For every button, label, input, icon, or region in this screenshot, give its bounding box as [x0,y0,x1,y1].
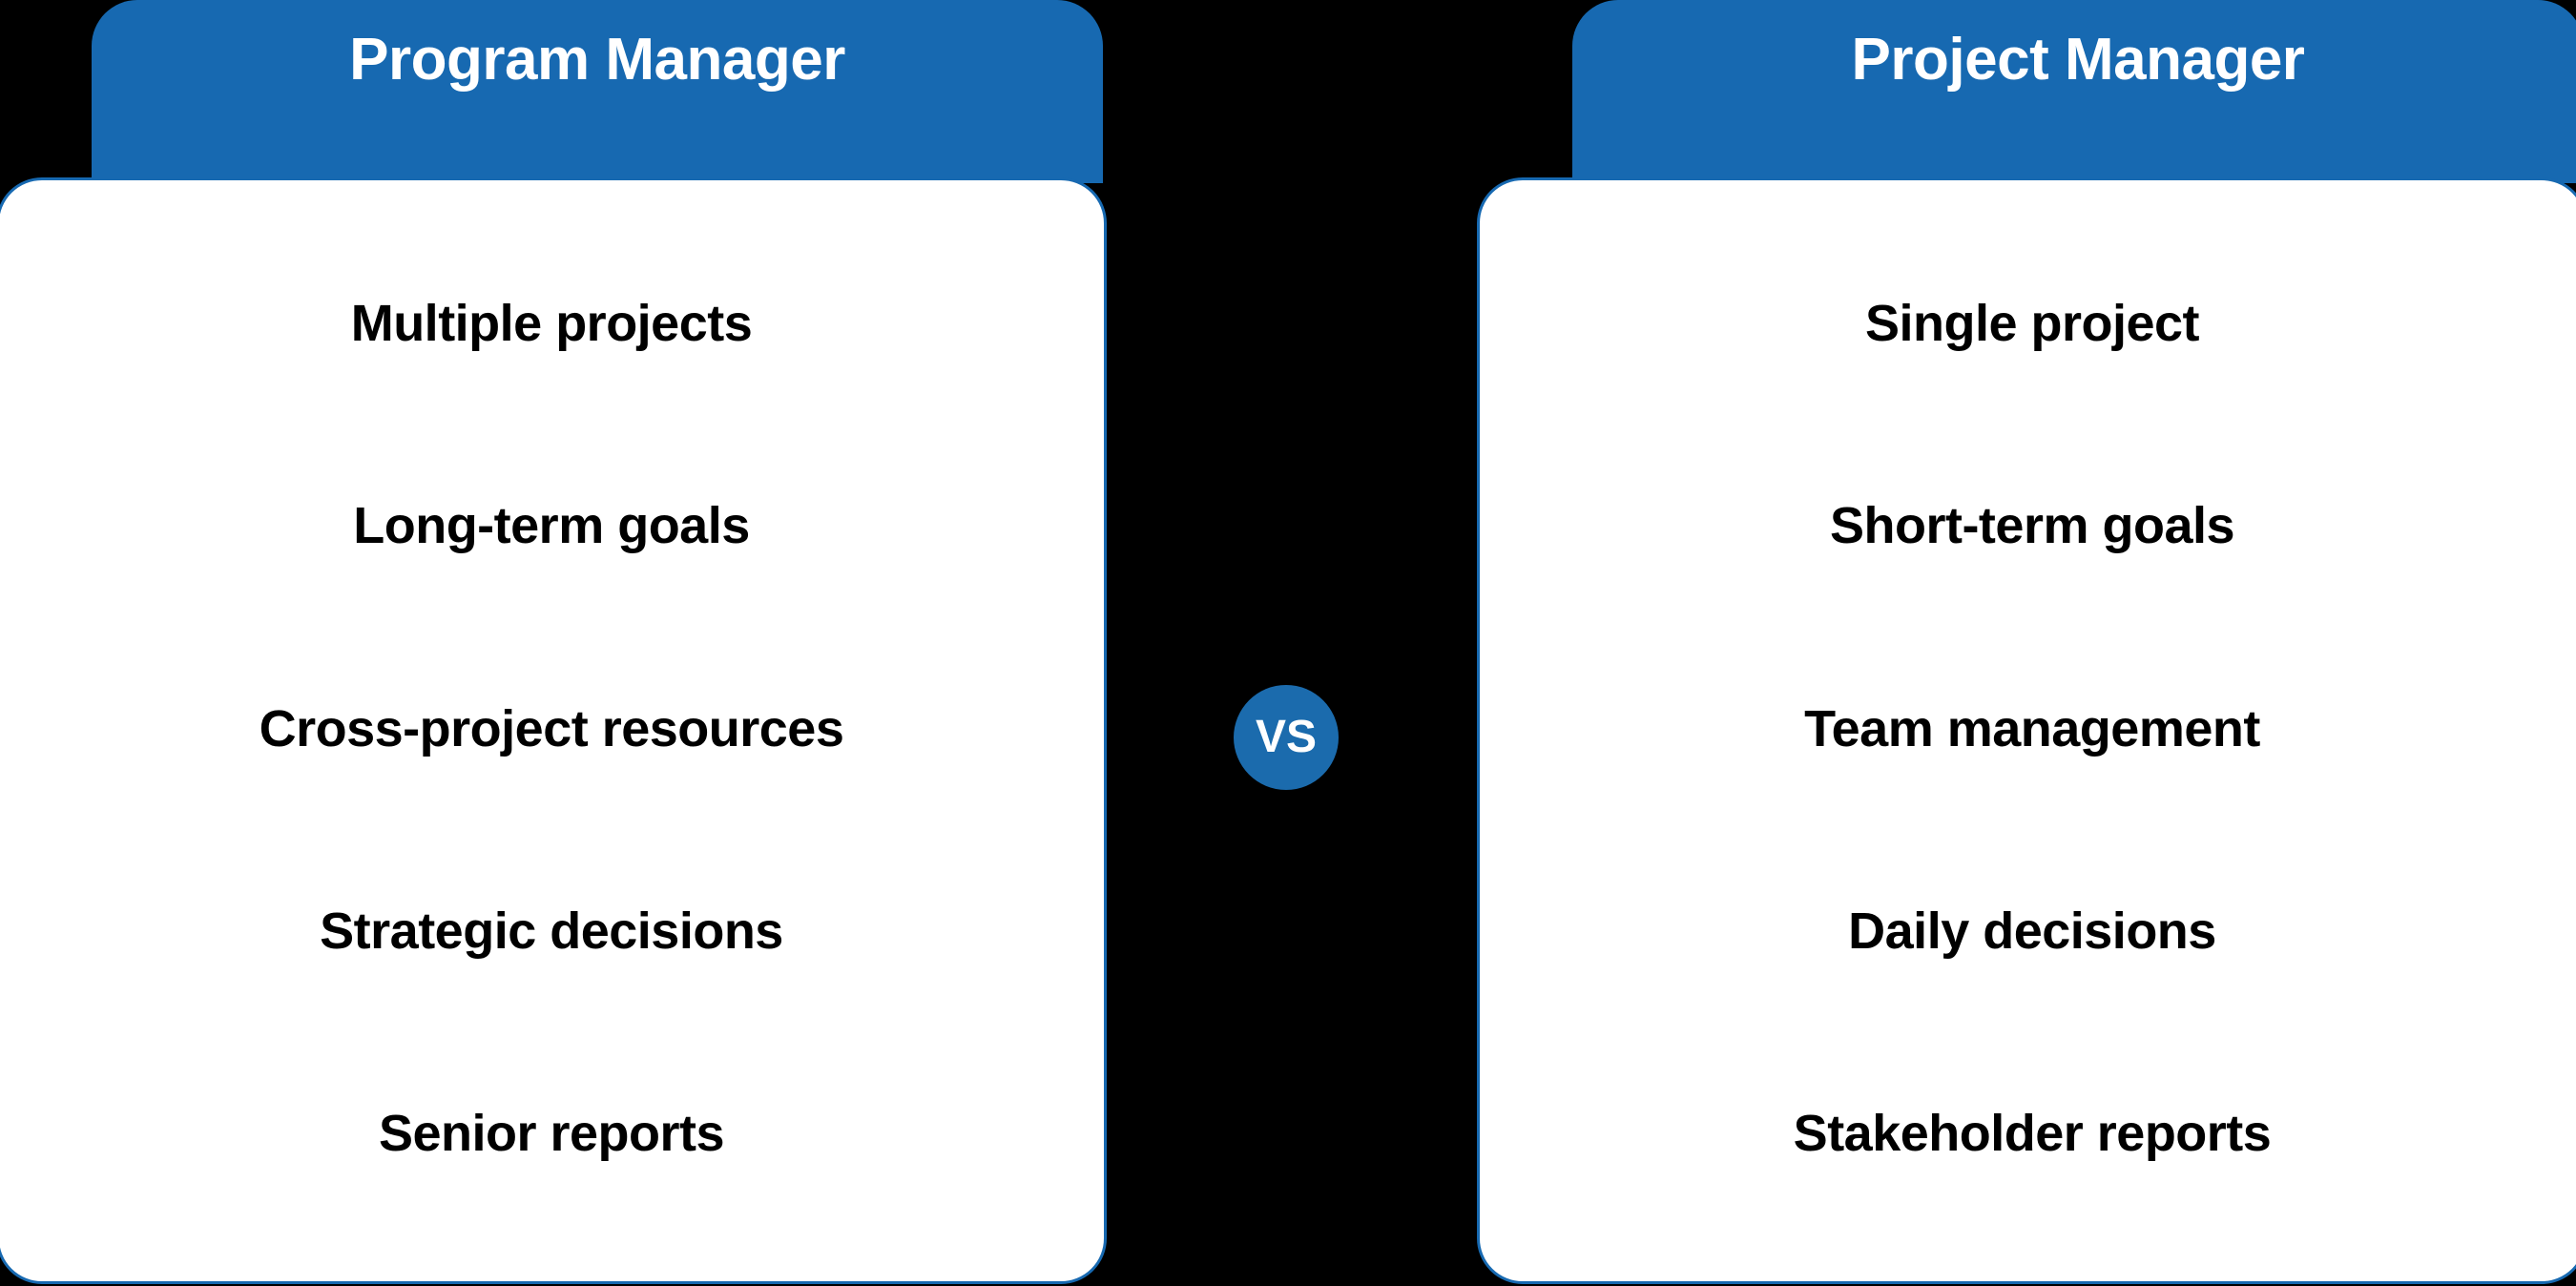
comparison-diagram: Program Manager Project Manager Multiple… [0,0,2576,1286]
list-item: Multiple projects [351,297,753,351]
column-title-right: Project Manager [1852,31,2305,90]
list-item: Short-term goals [1830,499,2234,553]
column-title-left: Program Manager [349,31,845,90]
column-card-project-manager: Single project Short-term goals Team man… [1477,177,2576,1284]
column-header-project-manager: Project Manager [1572,0,2576,183]
list-item: Cross-project resources [260,702,844,757]
column-header-program-manager: Program Manager [92,0,1103,183]
versus-badge: VS [1234,685,1339,790]
list-item: Daily decisions [1848,904,2216,959]
column-card-program-manager: Multiple projects Long-term goals Cross-… [0,177,1107,1284]
list-item: Stakeholder reports [1794,1107,2272,1161]
list-item: Team management [1804,702,2260,757]
list-item: Single project [1865,297,2199,351]
list-item: Long-term goals [353,499,750,553]
versus-badge-label: VS [1256,715,1317,760]
list-item: Strategic decisions [320,904,783,959]
list-item: Senior reports [379,1107,724,1161]
